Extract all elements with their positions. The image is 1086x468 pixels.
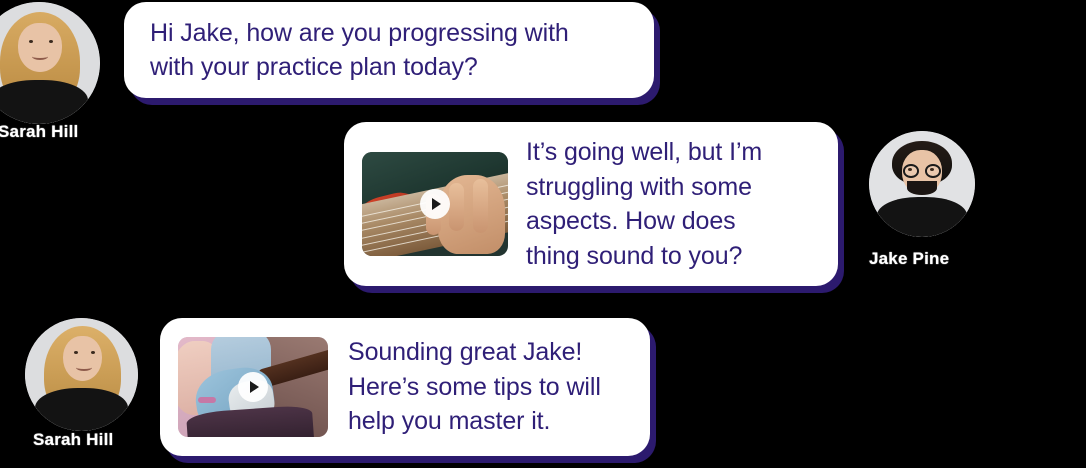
play-icon[interactable]	[238, 372, 268, 402]
avatar-participant-1[interactable]	[0, 2, 100, 124]
avatar-participant-2[interactable]	[869, 131, 975, 237]
message-text-3: Sounding great Jake! Here’s some tips to…	[348, 335, 601, 439]
avatar-photo-participant-2	[869, 131, 975, 237]
message-bubble-1[interactable]: Hi Jake, how are you progressing with wi…	[124, 2, 654, 98]
avatar-name-participant-3: Sarah Hill	[33, 430, 113, 450]
message-bubble-2[interactable]: It’s going well, but I’m struggling with…	[344, 122, 838, 286]
message-text-2: It’s going well, but I’m struggling with…	[526, 135, 762, 273]
avatar-name-participant-2: Jake Pine	[869, 249, 949, 269]
message-bubble-3[interactable]: Sounding great Jake! Here’s some tips to…	[160, 318, 650, 456]
video-thumbnail-1[interactable]	[362, 152, 508, 256]
avatar-name-participant-1: Sarah Hill	[0, 122, 78, 142]
message-text-1: Hi Jake, how are you progressing with wi…	[150, 16, 569, 85]
avatar-participant-3[interactable]	[25, 318, 138, 431]
play-icon[interactable]	[420, 189, 450, 219]
avatar-photo-participant-3	[25, 318, 138, 431]
avatar-photo-participant-1	[0, 2, 100, 124]
chat-thread-illustration: Sarah Hill Hi Jake, how are you progress…	[0, 0, 1086, 468]
video-thumbnail-2[interactable]	[178, 337, 328, 437]
